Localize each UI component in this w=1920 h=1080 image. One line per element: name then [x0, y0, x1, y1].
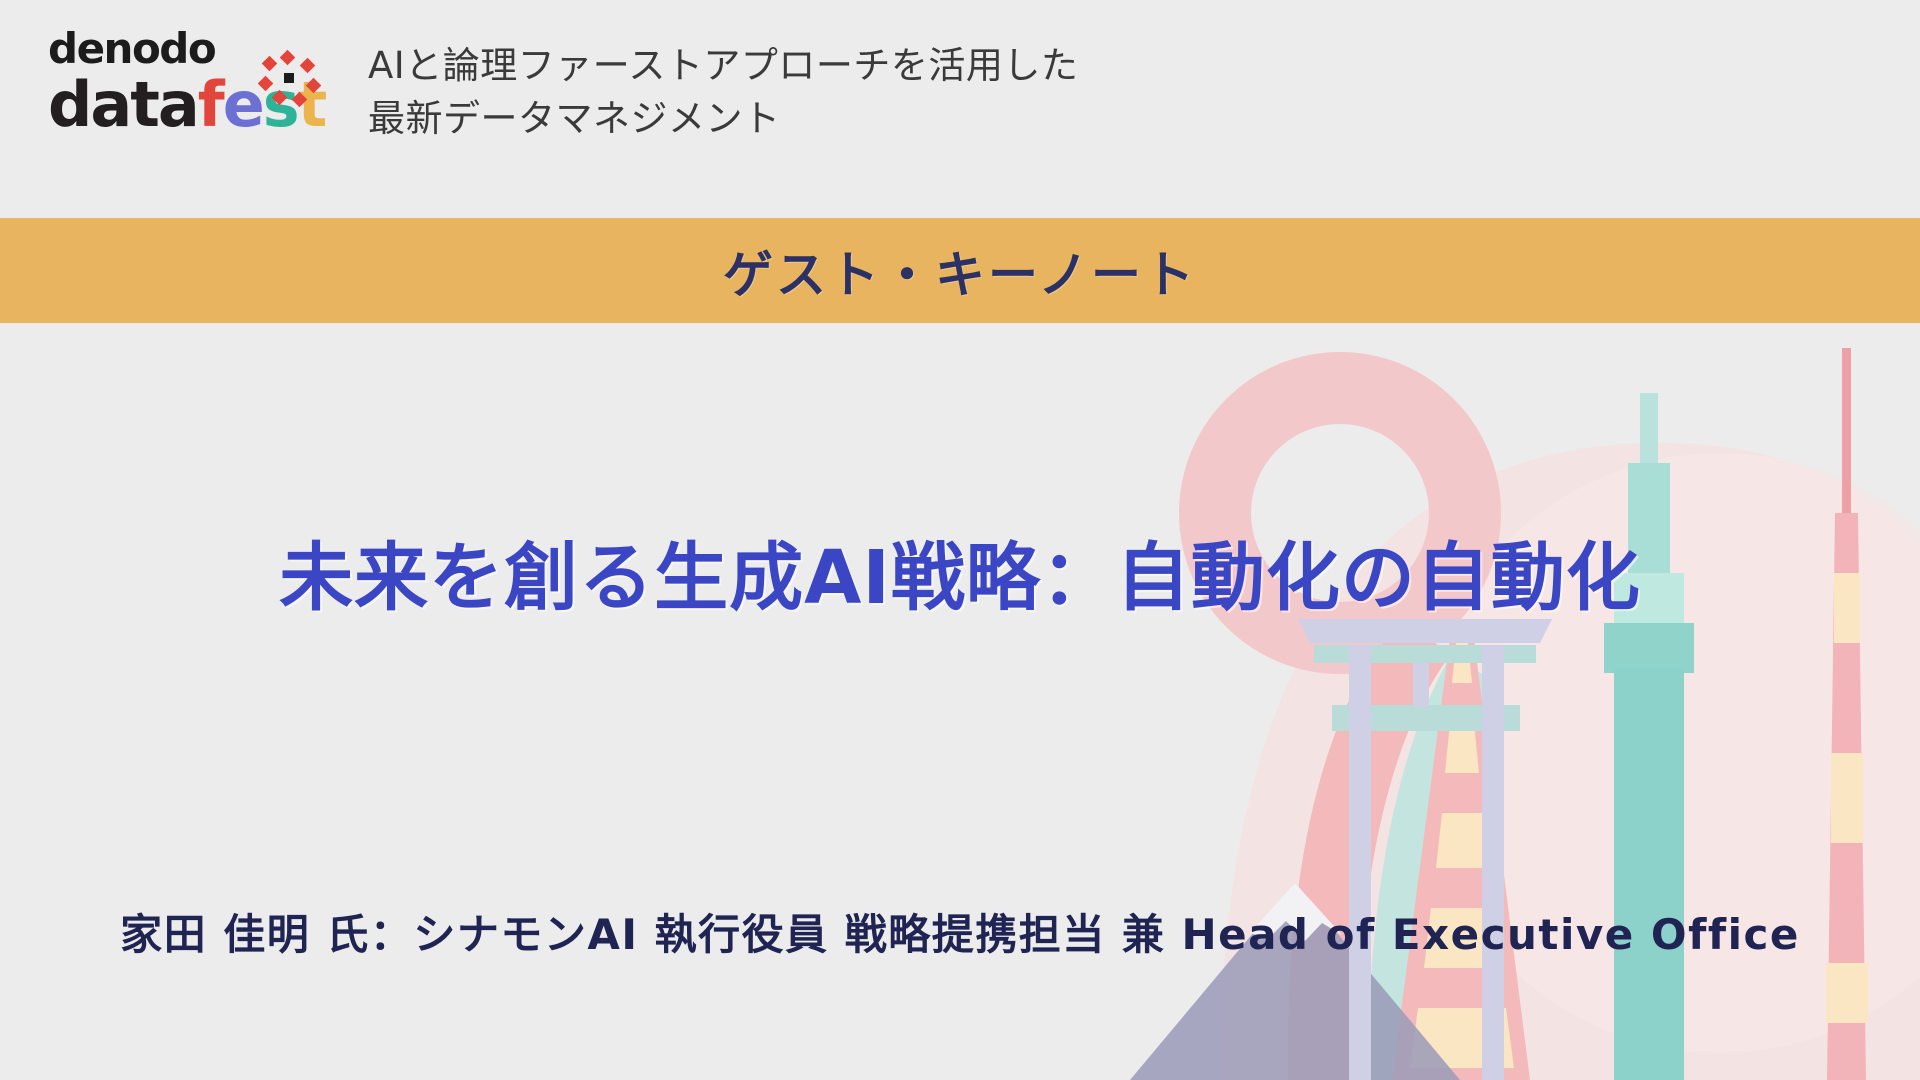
session-type-banner: ゲスト・キーノート — [0, 218, 1920, 323]
session-type-label: ゲスト・キーノート — [723, 235, 1197, 307]
pink-spire-tower — [1826, 348, 1868, 1080]
denodo-wordmark: denodo — [48, 28, 215, 70]
tokyo-landmarks-illustration — [1100, 323, 1920, 1080]
torii-gate — [1298, 619, 1552, 1080]
event-subtitle: AIと論理ファーストアプローチを活用した 最新データマネジメント — [368, 40, 1078, 145]
speaker-credit: 家田 佳明 氏：シナモンAI 執行役員 戦略提携担当 兼 Head of Exe… — [0, 901, 1920, 962]
denodo-datafest-logo: denodo datafest — [48, 28, 348, 148]
page-header: denodo datafest AIと論理ファーストアプローチを活用した 最新デ… — [0, 0, 1920, 218]
session-title: 未来を創る生成AI戦略：自動化の自動化 — [0, 518, 1920, 625]
slide-body: 未来を創る生成AI戦略：自動化の自動化 家田 佳明 氏：シナモンAI 執行役員 … — [0, 323, 1920, 1080]
teal-arch — [1368, 653, 1492, 1080]
denodo-dot-burst-icon — [256, 52, 316, 104]
pink-arch — [1288, 623, 1452, 1080]
tokyo-tower — [1392, 623, 1530, 1080]
tokyo-skytree — [1604, 393, 1694, 1080]
